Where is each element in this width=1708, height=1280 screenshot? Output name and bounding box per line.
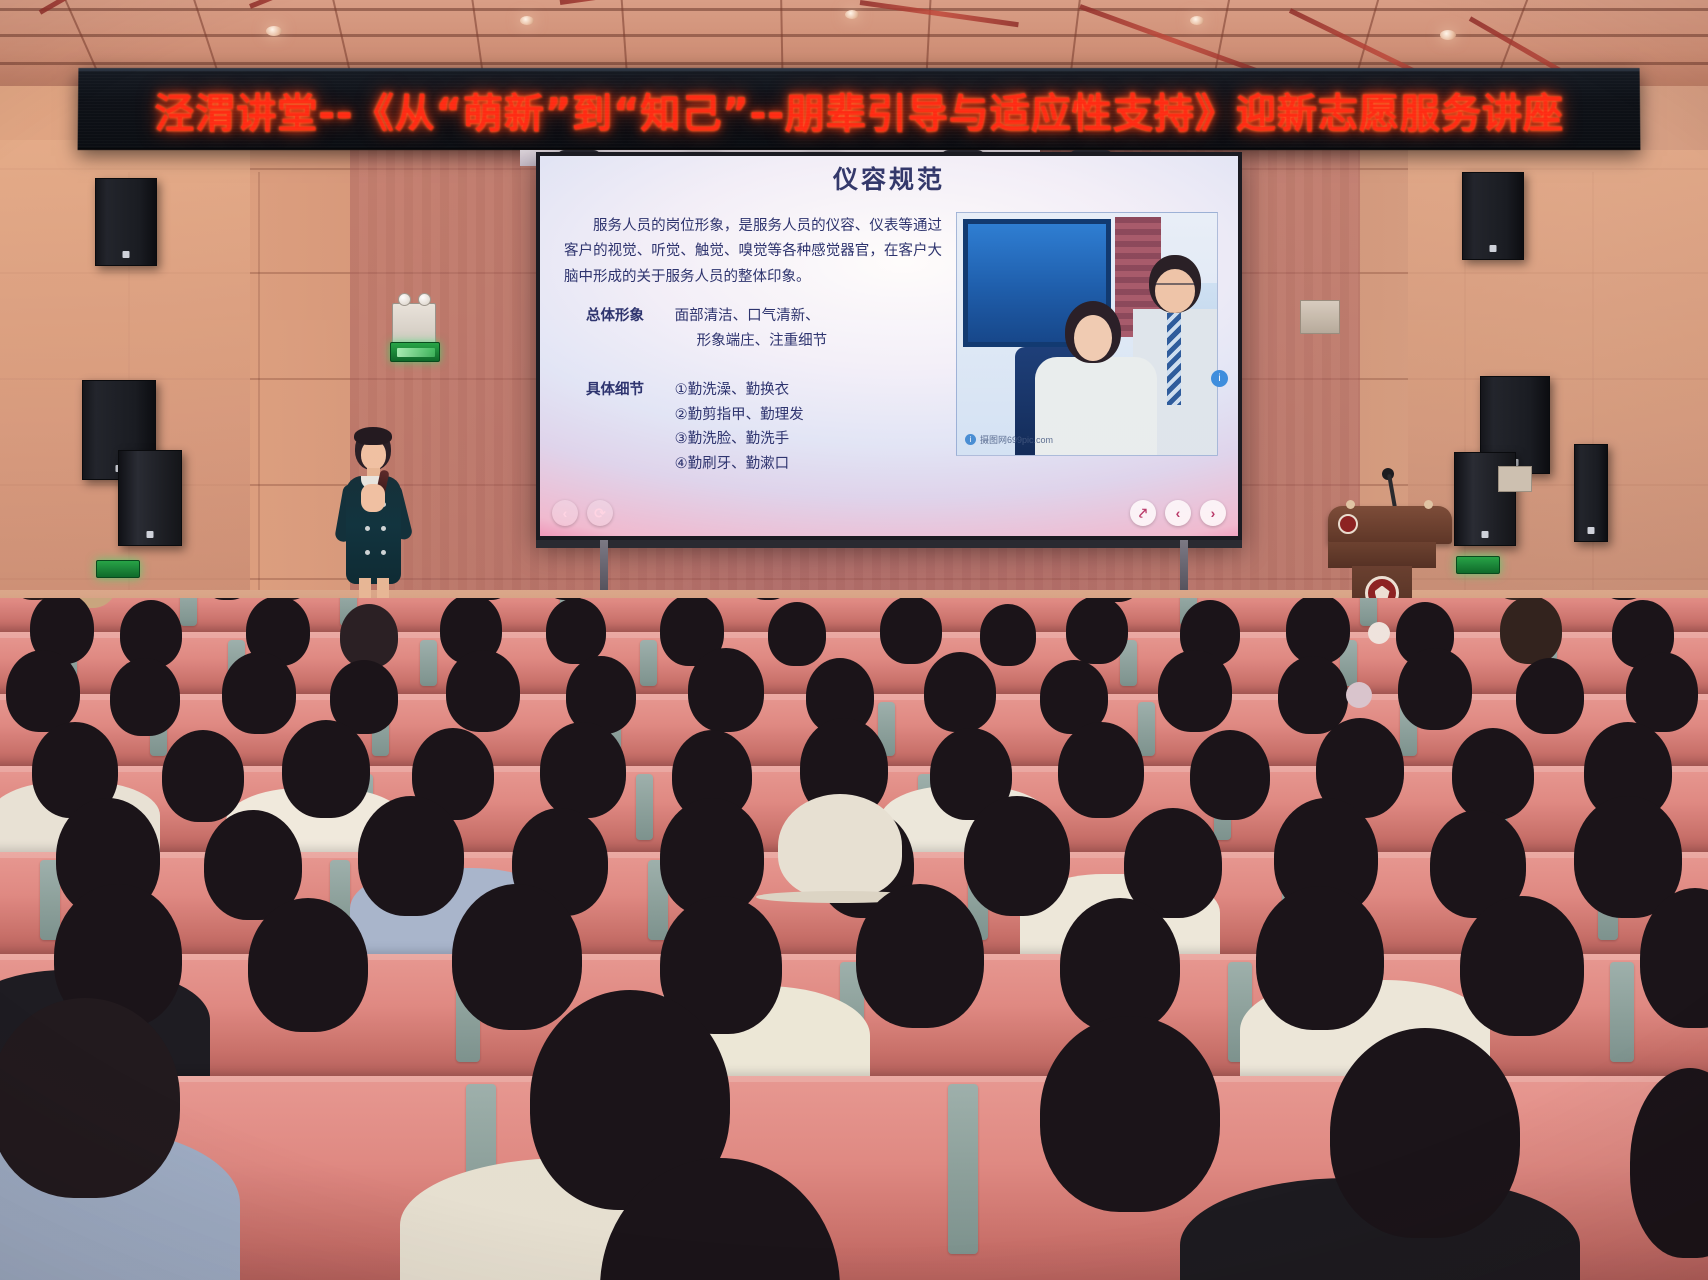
banner-text: 泾渭讲堂--《从“萌新”到“知己”--朋辈引导与适应性支持》迎新志愿服务讲座 <box>154 81 1564 139</box>
podium-emblem-small <box>1338 514 1358 534</box>
wall-plaque <box>1498 466 1532 492</box>
projection-screen-frame: 仪容规范 服务人员的岗位形象，是服务人员的仪容、仪表等通过客户的视觉、听觉、触觉… <box>536 152 1242 540</box>
slide-detail-item: ①勤洗澡、勤换衣 <box>675 382 790 398</box>
slide-info-badge[interactable]: i <box>1211 370 1228 387</box>
slide-nav-left[interactable]: ‹ ⟳ <box>552 500 613 526</box>
slide-section-details: 具体细节 ①勤洗澡、勤换衣 ②勤剪指甲、勤理发 ③勤洗脸、勤洗手 ④勤刷牙、勤漱… <box>586 378 946 477</box>
share-icon[interactable]: ⤤ <box>1130 500 1156 526</box>
prev-slide-icon[interactable]: ‹ <box>1165 500 1191 526</box>
audience-seating <box>0 598 1708 1280</box>
auditorium-photo: 泾渭讲堂--《从“萌新”到“知己”--朋辈引导与适应性支持》迎新志愿服务讲座 仪… <box>0 0 1708 1280</box>
slide-section-line: 面部清洁、口气清新、 <box>675 308 820 324</box>
slide-detail-item: ②勤剪指甲、勤理发 <box>675 407 804 423</box>
wall-speaker <box>95 178 157 266</box>
next-slide-icon[interactable]: › <box>1200 500 1226 526</box>
wall-vent <box>1300 300 1340 334</box>
slide-stock-photo: i 摄图网699pic.com <box>956 212 1218 456</box>
exit-sign-left <box>96 560 140 578</box>
slide-section-line: 形象端庄、注重细节 <box>675 329 828 354</box>
wall-speaker <box>118 450 182 546</box>
baseball-cap <box>778 794 902 898</box>
slide-title: 仪容规范 <box>540 160 1238 196</box>
slide-section-overall: 总体形象 面部清洁、口气清新、 形象端庄、注重细节 <box>586 304 946 353</box>
stock-photo-watermark: i 摄图网699pic.com <box>965 433 1053 446</box>
slide-section-label: 具体细节 <box>586 378 670 403</box>
watermark-text: 摄图网699pic.com <box>980 433 1053 446</box>
wall-panel-right <box>1408 150 1708 610</box>
led-banner: 泾渭讲堂--《从“萌新”到“知己”--朋辈引导与适应性支持》迎新志愿服务讲座 <box>78 68 1641 150</box>
back-arrow-icon[interactable]: ‹ <box>552 500 578 526</box>
wall-speaker <box>1462 172 1524 260</box>
exit-sign-right <box>1456 556 1500 574</box>
slide-nav-right[interactable]: ⤤ ‹ › <box>1130 500 1226 526</box>
slide-paragraph-text: 服务人员的岗位形象，是服务人员的仪容、仪表等通过客户的视觉、听觉、触觉、嗅觉等各… <box>564 214 942 290</box>
slide-paragraph: 服务人员的岗位形象，是服务人员的仪容、仪表等通过客户的视觉、听觉、触觉、嗅觉等各… <box>564 214 942 296</box>
slide-detail-item: ④勤刷牙、勤漱口 <box>675 456 790 472</box>
wall-speaker <box>1574 444 1608 542</box>
circle-info-icon: i <box>965 434 976 445</box>
screen-bottom-bar <box>536 540 1242 548</box>
refresh-icon[interactable]: ⟳ <box>587 500 613 526</box>
emergency-light-box <box>392 303 436 345</box>
exit-sign <box>390 342 440 362</box>
slide-detail-item: ③勤洗脸、勤洗手 <box>675 431 790 447</box>
projection-screen: 仪容规范 服务人员的岗位形象，是服务人员的仪容、仪表等通过客户的视觉、听觉、触觉… <box>540 156 1238 536</box>
slide-section-label: 总体形象 <box>586 304 670 329</box>
